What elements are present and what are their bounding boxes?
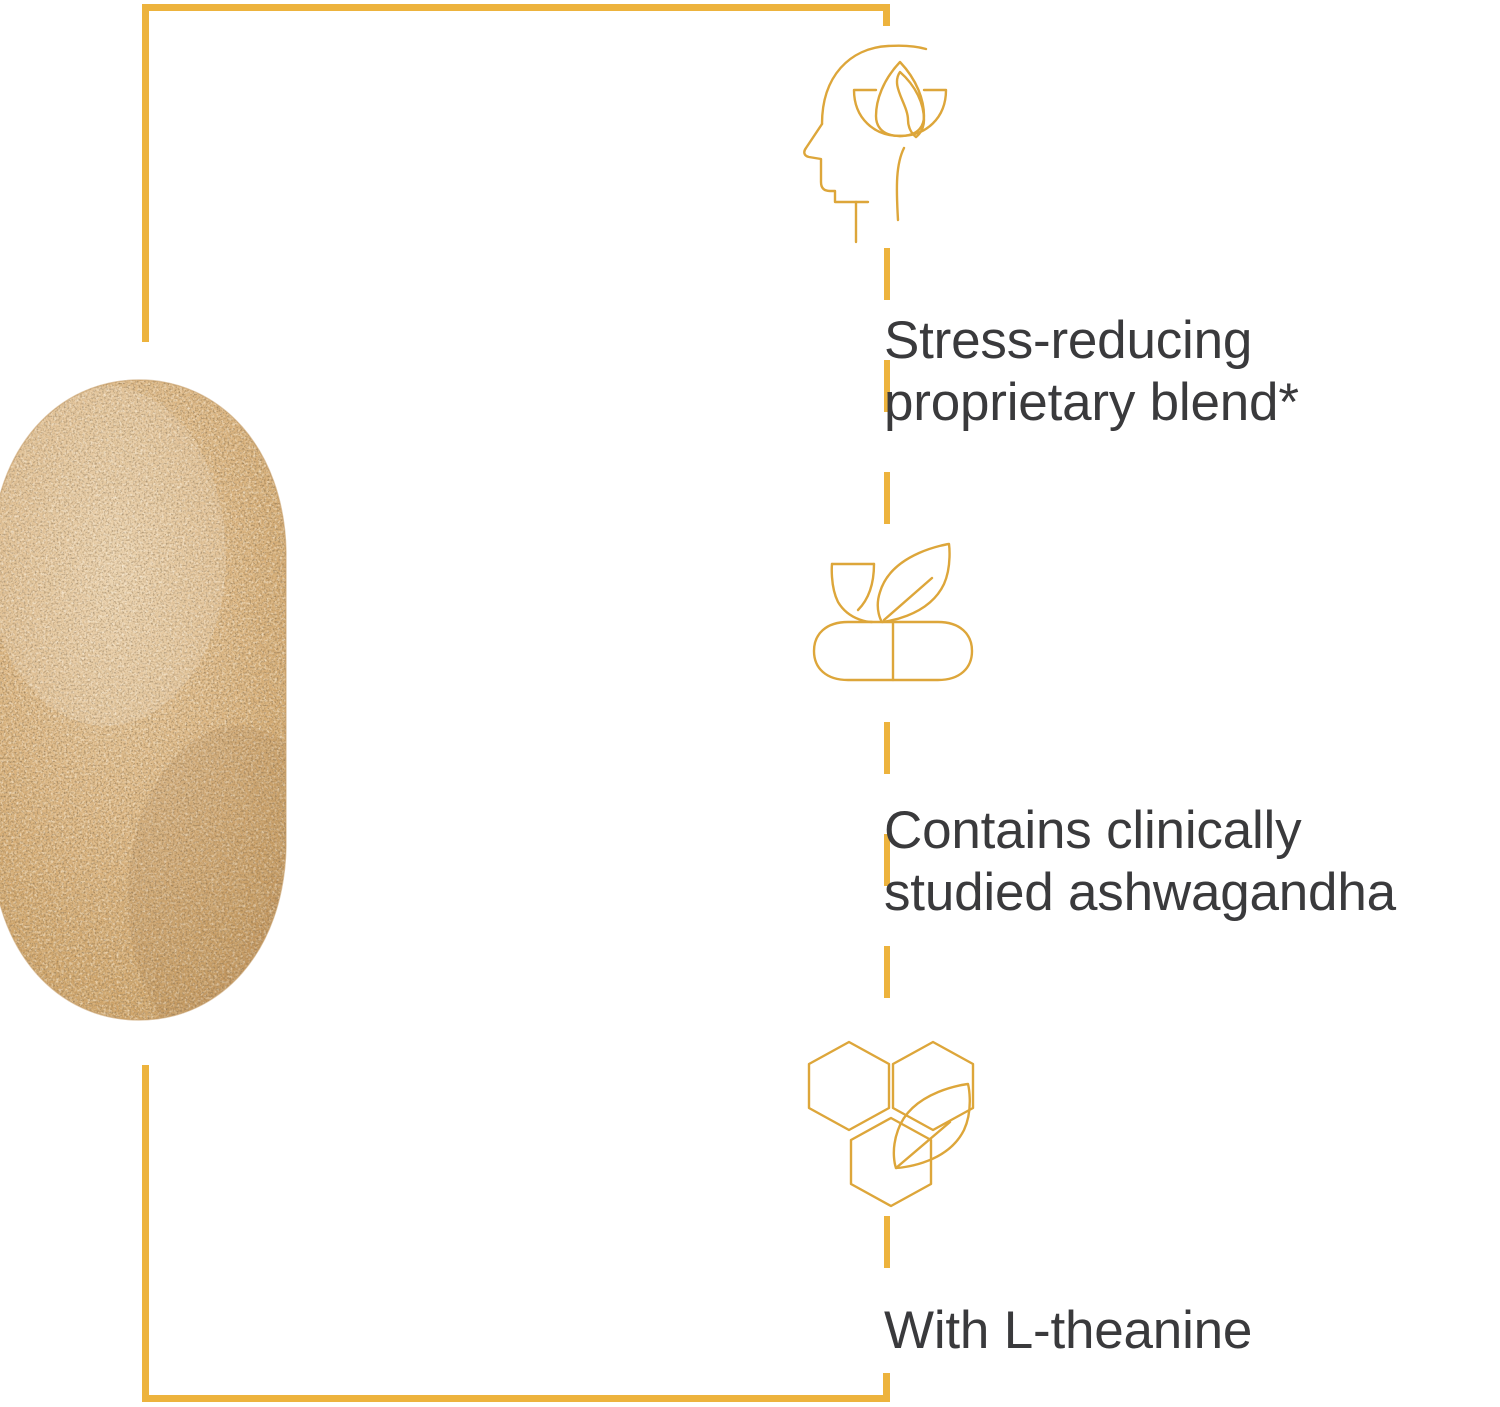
frame-top-right-tick xyxy=(883,4,890,26)
frame-bottom-right-tick xyxy=(883,1373,890,1402)
frame-top-left-vertical xyxy=(142,4,149,342)
product-tablet-image xyxy=(0,376,290,1024)
frame-top-horizontal xyxy=(142,4,890,11)
capsule-leaves-icon xyxy=(808,540,978,704)
frame-bottom-horizontal xyxy=(142,1395,890,1402)
product-feature-callout-graphic: Stress-reducing proprietary blend* Conta… xyxy=(0,0,1500,1407)
frame-bottom-left-vertical xyxy=(142,1065,149,1402)
feature-text-2: Contains clinically studied ashwagandha xyxy=(884,800,1500,924)
feature-text-1: Stress-reducing proprietary blend* xyxy=(884,310,1500,434)
feature-text-3: With L-theanine xyxy=(884,1300,1484,1362)
honeycomb-leaf-icon xyxy=(800,1038,982,1210)
head-lotus-icon xyxy=(792,36,968,246)
